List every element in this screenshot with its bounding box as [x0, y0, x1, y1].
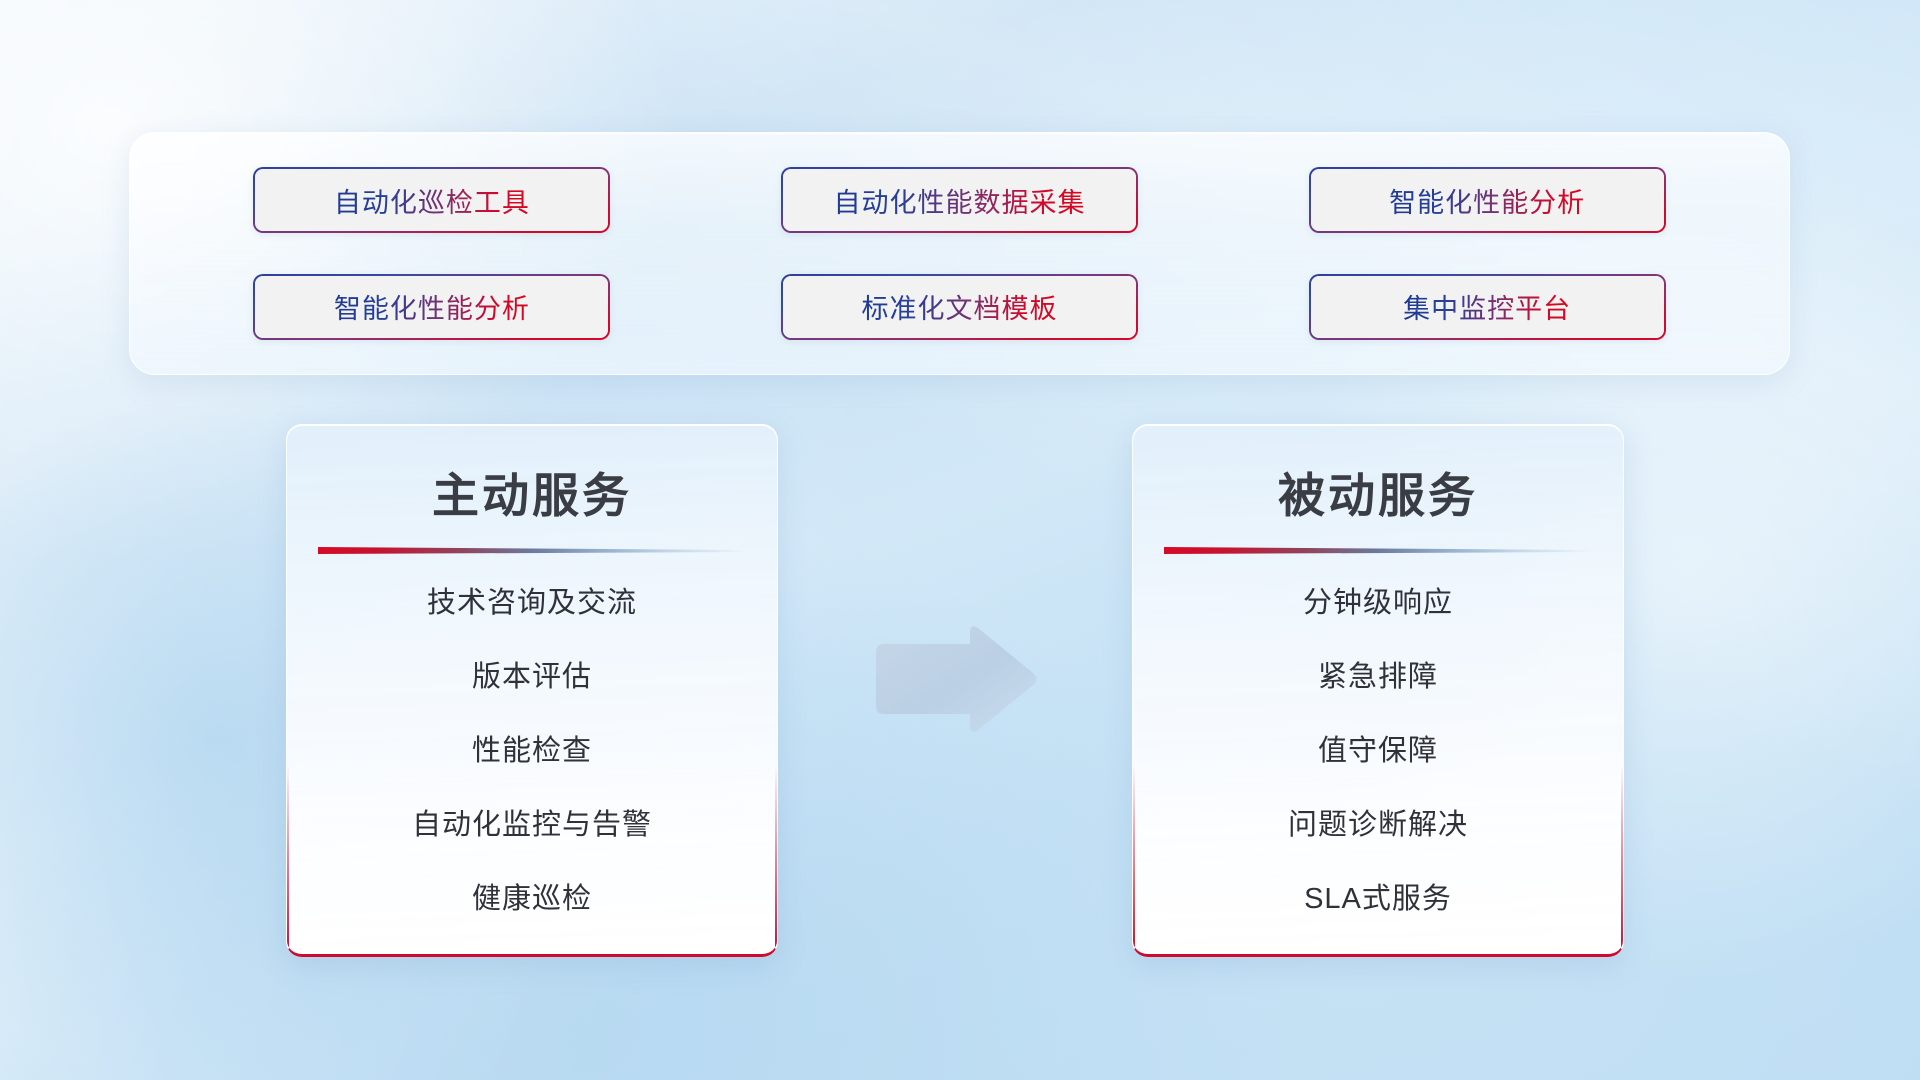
list-item: 版本评估 — [287, 663, 777, 692]
capability-pill-inner: 集中监控平台 — [1311, 276, 1664, 338]
capability-pill-intelligent-perf-analysis-2[interactable]: 智能化性能分析 — [253, 274, 610, 340]
capability-pill-label: 自动化巡检工具 — [334, 181, 530, 220]
capability-pill-inner: 自动化巡检工具 — [255, 169, 608, 231]
capability-pill-label: 标准化文档模板 — [861, 287, 1057, 326]
capability-pill-auto-perf-data-collection[interactable]: 自动化性能数据采集 — [781, 167, 1138, 233]
capability-pill-centralized-monitor-platform[interactable]: 集中监控平台 — [1309, 274, 1666, 340]
capability-pill-label: 智能化性能分析 — [334, 287, 530, 326]
list-item: 性能检查 — [287, 737, 777, 766]
service-card-active-title: 主动服务 — [287, 457, 777, 526]
list-item: 健康巡检 — [287, 885, 777, 914]
service-card-active-list: 技术咨询及交流 版本评估 性能检查 自动化监控与告警 健康巡检 — [287, 589, 777, 914]
list-item: 问题诊断解决 — [1133, 811, 1623, 840]
list-item: 分钟级响应 — [1133, 589, 1623, 618]
capability-pill-inner: 标准化文档模板 — [783, 276, 1136, 338]
list-item: 技术咨询及交流 — [287, 589, 777, 618]
service-card-passive: 被动服务 分钟级响应 紧急排障 值守保障 问题诊断解决 SLA式服务 — [1132, 424, 1624, 957]
list-item: 自动化监控与告警 — [287, 811, 777, 840]
capability-pill-grid: 自动化巡检工具 自动化性能数据采集 智能化性能分析 智能化性能分析 标准化文档模… — [130, 133, 1789, 374]
capability-pill-inner: 智能化性能分析 — [1311, 169, 1664, 231]
capability-pill-label: 集中监控平台 — [1403, 287, 1571, 326]
capability-pill-inner: 智能化性能分析 — [255, 276, 608, 338]
card-divider-gradient — [318, 547, 746, 554]
capability-pill-auto-inspection-tool[interactable]: 自动化巡检工具 — [253, 167, 610, 233]
capability-panel: 自动化巡检工具 自动化性能数据采集 智能化性能分析 智能化性能分析 标准化文档模… — [129, 132, 1790, 375]
service-card-passive-title: 被动服务 — [1133, 457, 1623, 526]
capability-pill-label: 自动化性能数据采集 — [833, 181, 1085, 220]
list-item: 紧急排障 — [1133, 663, 1623, 692]
list-item: SLA式服务 — [1133, 885, 1623, 914]
capability-pill-intelligent-perf-analysis-1[interactable]: 智能化性能分析 — [1309, 167, 1666, 233]
service-card-passive-list: 分钟级响应 紧急排障 值守保障 问题诊断解决 SLA式服务 — [1133, 589, 1623, 914]
arrow-right-icon — [870, 623, 1040, 735]
capability-pill-standardized-doc-template[interactable]: 标准化文档模板 — [781, 274, 1138, 340]
card-divider-gradient — [1164, 547, 1592, 554]
list-item: 值守保障 — [1133, 737, 1623, 766]
service-card-active: 主动服务 技术咨询及交流 版本评估 性能检查 自动化监控与告警 健康巡检 — [286, 424, 778, 957]
capability-pill-inner: 自动化性能数据采集 — [783, 169, 1136, 231]
capability-pill-label: 智能化性能分析 — [1389, 181, 1585, 220]
